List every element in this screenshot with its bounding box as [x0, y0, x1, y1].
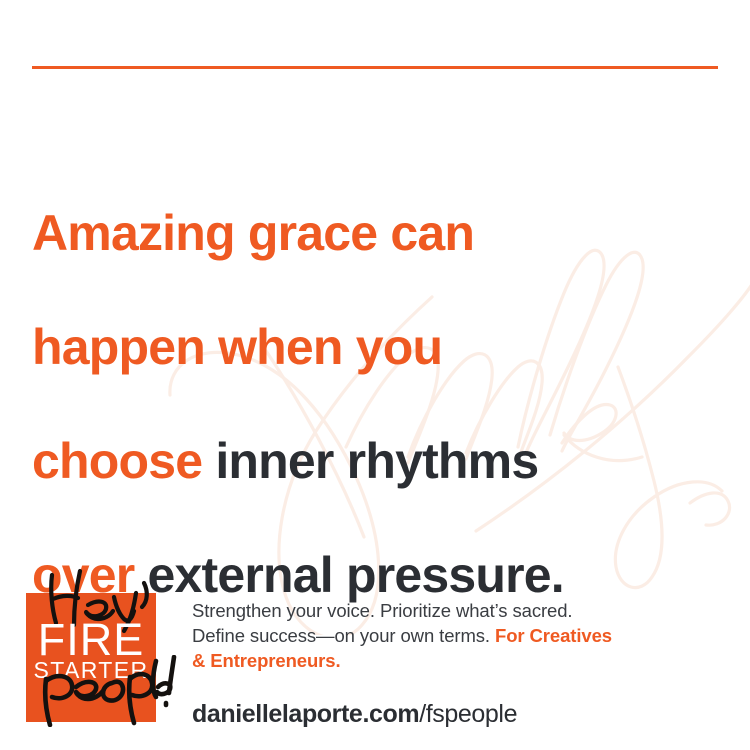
- poster-canvas: Amazing grace can happen when you choose…: [0, 0, 750, 750]
- headline-line-1: Amazing grace can: [32, 205, 474, 261]
- headline-line-3-accent: choose: [32, 433, 215, 489]
- fire-starter-people-logo[interactable]: FIRE STARTER: [26, 593, 156, 722]
- headline-line-2: happen when you: [32, 319, 442, 375]
- top-divider-rule: [32, 66, 718, 69]
- logo-starter-text: STARTER: [30, 659, 152, 682]
- logo-fire-text: FIRE: [32, 617, 150, 662]
- tagline: Strengthen your voice. Prioritize what’s…: [192, 598, 612, 673]
- headline-line-4-dark: external pressure.: [148, 547, 564, 603]
- website-url[interactable]: daniellelaporte.com/fspeople: [192, 699, 612, 729]
- url-path: /fspeople: [419, 700, 517, 728]
- page-title: Amazing grace can happen when you choose…: [32, 148, 692, 604]
- footer-copy-block: Strengthen your voice. Prioritize what’s…: [192, 598, 612, 729]
- url-domain: daniellelaporte.com: [192, 700, 419, 728]
- headline-line-3-dark: inner rhythms: [215, 433, 538, 489]
